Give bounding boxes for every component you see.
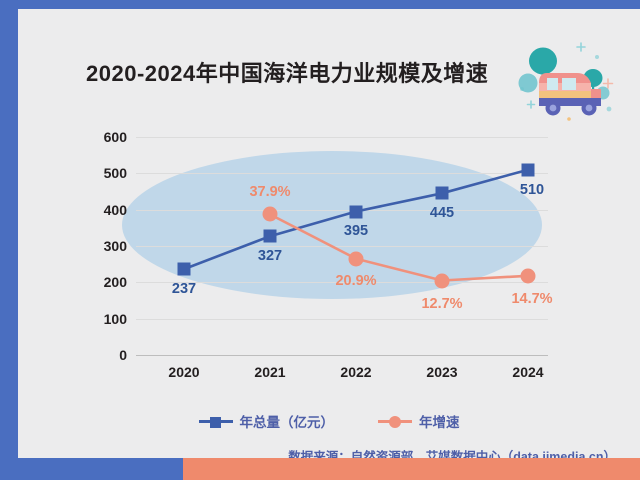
legend-label-total: 年总量（亿元）	[240, 411, 335, 431]
point-total-2024[interactable]	[522, 163, 535, 176]
y-tick-500: 500	[104, 165, 127, 181]
bottom-bar-orange-segment	[183, 458, 640, 480]
y-tick-600: 600	[104, 129, 127, 145]
label-growth-2021: 37.9%	[249, 184, 290, 200]
page-title: 2020-2024年中国海洋电力业规模及增速	[86, 56, 488, 88]
slide-canvas: 2020-2024年中国海洋电力业规模及增速	[18, 9, 640, 458]
series-lines	[136, 137, 548, 355]
point-total-2021[interactable]	[264, 230, 277, 243]
bottom-bar-blue-segment	[0, 458, 183, 480]
point-total-2020[interactable]	[178, 263, 191, 276]
y-tick-0: 0	[119, 347, 127, 363]
label-growth-2023: 12.7%	[421, 296, 462, 312]
label-total-2020: 237	[172, 281, 196, 297]
legend-marker-circle-icon	[378, 415, 412, 427]
bottom-accent-bar	[0, 458, 640, 480]
label-total-2021: 327	[258, 248, 282, 264]
label-growth-2022: 20.9%	[335, 273, 376, 289]
y-tick-300: 300	[104, 238, 127, 254]
label-growth-2024: 14.7%	[511, 291, 552, 307]
chart-legend: 年总量（亿元） 年增速	[18, 411, 640, 431]
point-growth-2022[interactable]	[349, 251, 364, 266]
x-tick-2023: 2023	[426, 364, 457, 380]
legend-item-total[interactable]: 年总量（亿元）	[199, 411, 335, 431]
x-tick-2024: 2024	[512, 364, 543, 380]
x-axis-line	[136, 355, 548, 356]
point-growth-2023[interactable]	[435, 273, 450, 288]
label-total-2024: 510	[520, 182, 544, 198]
x-tick-2020: 2020	[168, 364, 199, 380]
left-accent-bar	[0, 0, 18, 480]
x-tick-2021: 2021	[254, 364, 285, 380]
point-total-2022[interactable]	[350, 205, 363, 218]
label-total-2023: 445	[430, 205, 454, 221]
label-total-2022: 395	[344, 223, 368, 239]
point-total-2023[interactable]	[436, 187, 449, 200]
chart-plot-area: 600 500 400 300 200 100 0 2020 2021 2022…	[136, 137, 548, 355]
y-tick-100: 100	[104, 311, 127, 327]
y-tick-400: 400	[104, 202, 127, 218]
legend-item-growth[interactable]: 年增速	[378, 411, 460, 431]
legend-marker-square-icon	[199, 415, 233, 427]
y-tick-200: 200	[104, 274, 127, 290]
legend-label-growth: 年增速	[419, 411, 460, 431]
point-growth-2021[interactable]	[263, 207, 278, 222]
point-growth-2024[interactable]	[521, 268, 536, 283]
camper-van-illustration	[513, 31, 623, 123]
x-tick-2022: 2022	[340, 364, 371, 380]
